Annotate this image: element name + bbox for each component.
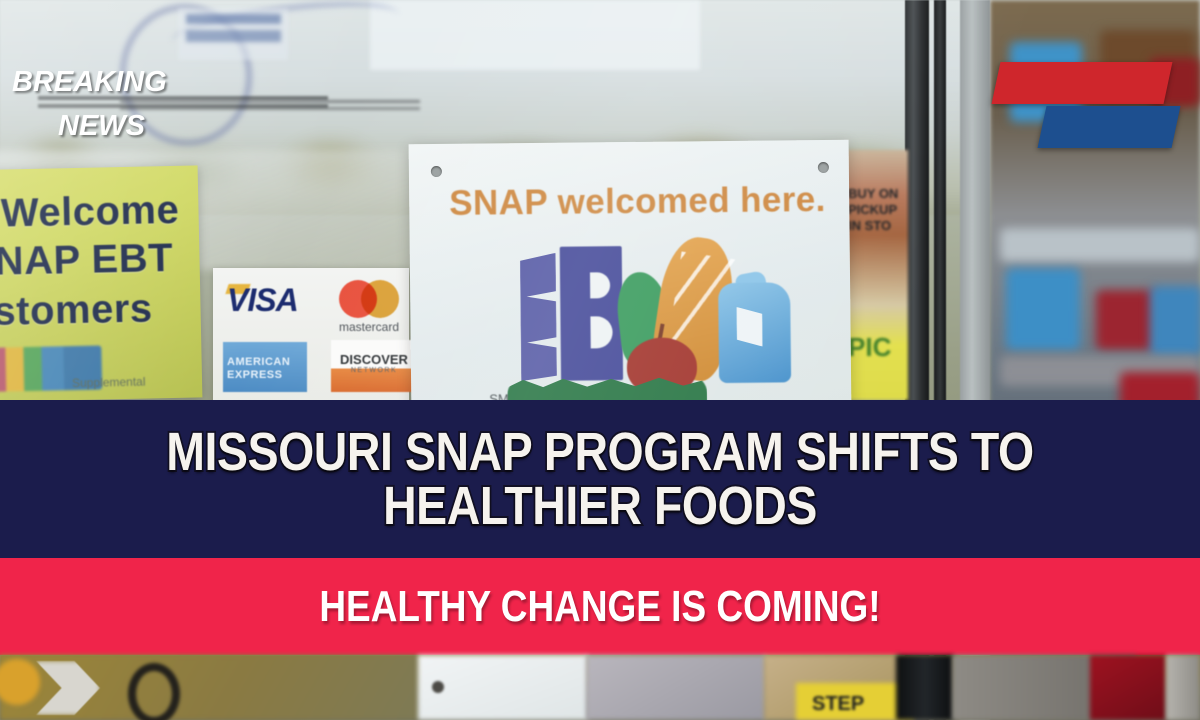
snap-ebt-welcome-poster: e Welcome SNAP EBT ustomers Supplemental bbox=[0, 165, 202, 402]
ebt-food-logo-icon bbox=[498, 244, 800, 407]
visa-logo: VISA bbox=[227, 282, 298, 319]
headline-text: MISSOURI SNAP PROGRAM SHIFTS TO HEALTHIE… bbox=[114, 425, 1086, 533]
credit-card-acceptance-poster: VISA mastercard AMERICAN EXPRESS DISCOVE… bbox=[213, 268, 409, 404]
mastercard-yellow-circle bbox=[361, 280, 399, 318]
poster-grommet-left bbox=[431, 166, 442, 177]
pickup-promo-big-word: PIC bbox=[848, 332, 906, 363]
ebt-letter-b bbox=[560, 246, 623, 381]
bottom-right-edge bbox=[1166, 655, 1200, 720]
bottom-red-panel bbox=[1090, 655, 1166, 720]
discover-wordmark: DISCOVER bbox=[334, 352, 414, 367]
breaking-badge-red-bar bbox=[992, 62, 1173, 104]
blurred-fine-print-line-2 bbox=[120, 100, 420, 112]
green-poster-line-2: SNAP EBT bbox=[0, 236, 173, 285]
green-poster-footnote: Supplemental bbox=[72, 375, 146, 391]
discover-network-label: NETWORK bbox=[334, 367, 414, 374]
snap-word: SNAP bbox=[449, 183, 548, 223]
reflected-sign-text bbox=[186, 14, 281, 54]
snap-poster-heading: SNAP welcomed here. bbox=[449, 180, 826, 224]
breaking-news-badge bbox=[996, 62, 1176, 154]
bottom-letter-o bbox=[128, 663, 180, 720]
poster-grommet-right bbox=[818, 162, 829, 173]
shelf-edge-1 bbox=[1000, 228, 1200, 262]
bottom-photo-strip: STEP bbox=[0, 655, 1200, 720]
subtitle-text: HEALTHY CHANGE IS COMING! bbox=[138, 585, 1062, 629]
bottom-sign-grommet bbox=[432, 681, 444, 693]
mastercard-wordmark: mastercard bbox=[339, 320, 399, 334]
ebt-letter-e bbox=[520, 253, 557, 381]
amex-wordmark: AMERICAN EXPRESS bbox=[227, 356, 303, 382]
reflected-white-sign bbox=[370, 0, 700, 70]
breaking-badge-blue-bar bbox=[1038, 106, 1181, 148]
mastercard-logo-icon bbox=[339, 280, 401, 318]
snap-welcomed-here-poster: SNAP welcomed here. SM bbox=[409, 140, 852, 413]
welcomed-here-words: welcomed here. bbox=[547, 180, 826, 222]
bottom-gray-panel bbox=[586, 655, 766, 720]
green-poster-line-1: e Welcome bbox=[0, 188, 180, 237]
green-poster-line-3: ustomers bbox=[0, 286, 153, 335]
headline-band: MISSOURI SNAP PROGRAM SHIFTS TO HEALTHIE… bbox=[0, 400, 1200, 558]
bottom-caution-text: STEP bbox=[812, 693, 864, 716]
shelf-product-blue-2 bbox=[1006, 268, 1080, 350]
breaking-label: BREAKING bbox=[12, 66, 167, 99]
news-label: NEWS bbox=[58, 110, 145, 143]
shelf-product-red-2 bbox=[1096, 290, 1156, 350]
shelf-product-blue-3 bbox=[1150, 286, 1200, 356]
pickup-promo-text: BUY ON PICKUP IN STO bbox=[848, 186, 906, 234]
news-graphic-screenshot: BUY ON PICKUP IN STO PIC e Welcome SNAP … bbox=[0, 0, 1200, 720]
bottom-door-frame bbox=[896, 655, 954, 720]
subtitle-band: HEALTHY CHANGE IS COMING! bbox=[0, 558, 1200, 655]
